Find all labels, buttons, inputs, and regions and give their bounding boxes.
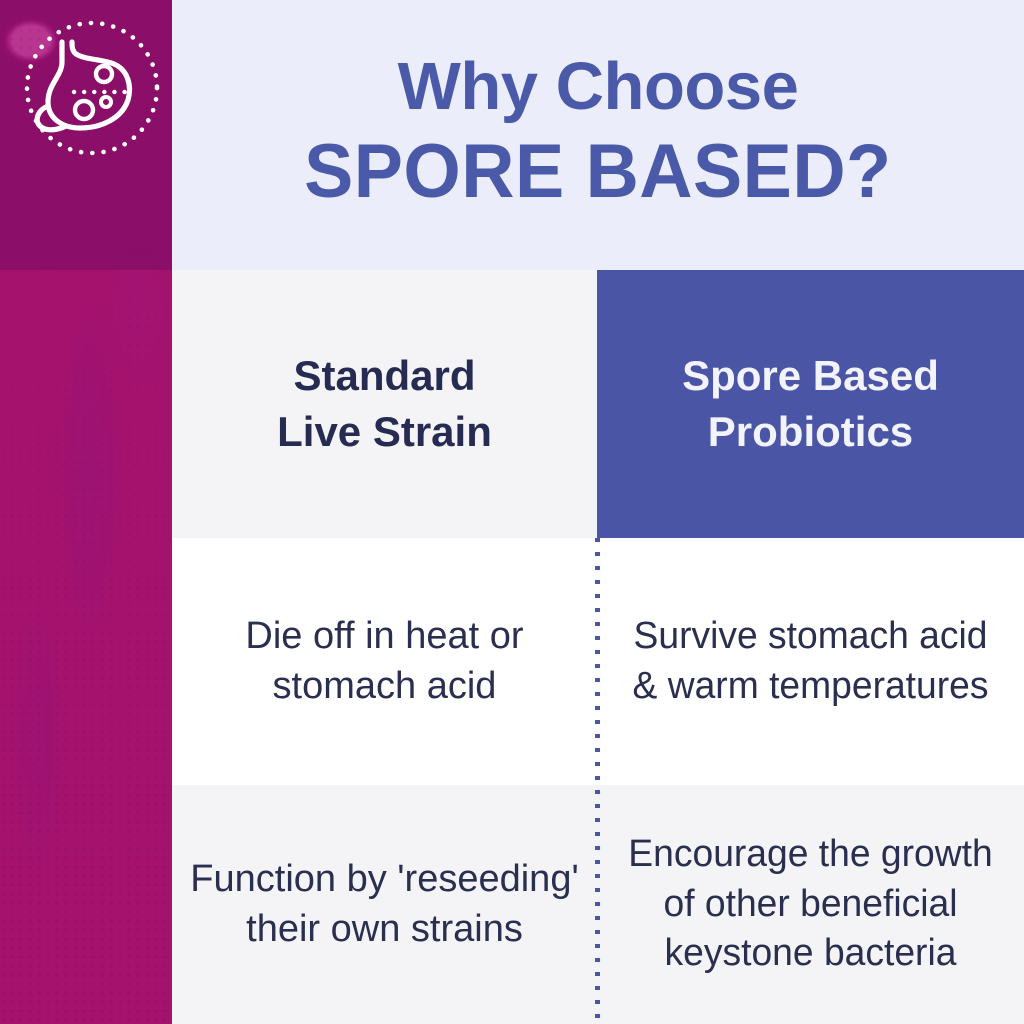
content-panel: Why Choose SPORE BASED? Standard Live St…	[172, 0, 1024, 1024]
comparison-cell-text: Die off in heat or stomach acid	[190, 612, 579, 711]
comparison-header-row: Standard Live Strain Spore Based Probiot…	[172, 270, 1024, 538]
comparison-cell-text: Function by 'reseeding' their own strain…	[190, 855, 579, 954]
column-header-spore-based-line1: Spore Based	[682, 352, 939, 399]
comparison-cell-standard-2: Function by 'reseeding' their own strain…	[172, 785, 597, 1024]
page-title-line-2: SPORE BASED?	[304, 132, 891, 212]
title-band: Why Choose SPORE BASED?	[172, 0, 1024, 270]
column-header-standard: Standard Live Strain	[172, 270, 597, 538]
column-header-spore-based: Spore Based Probiotics	[597, 270, 1024, 538]
stomach-icon	[18, 14, 166, 162]
column-header-spore-based-line2: Probiotics	[708, 408, 913, 455]
infographic-root: Why Choose SPORE BASED? Standard Live St…	[0, 0, 1024, 1024]
left-texture-panel	[0, 0, 172, 1024]
column-header-standard-line1: Standard	[293, 352, 475, 399]
comparison-cell-text: Survive stomach acid & warm temperatures	[619, 612, 1002, 711]
comparison-cell-standard-1: Die off in heat or stomach acid	[172, 538, 597, 785]
column-header-standard-line2: Live Strain	[277, 408, 492, 455]
column-divider-dotted	[595, 538, 600, 1024]
page-title-line-1: Why Choose	[398, 53, 799, 120]
comparison-cell-spore-1: Survive stomach acid & warm temperatures	[597, 538, 1024, 785]
comparison-cell-spore-2: Encourage the growth of other beneficial…	[597, 785, 1024, 1024]
comparison-cell-text: Encourage the growth of other beneficial…	[619, 830, 1002, 978]
